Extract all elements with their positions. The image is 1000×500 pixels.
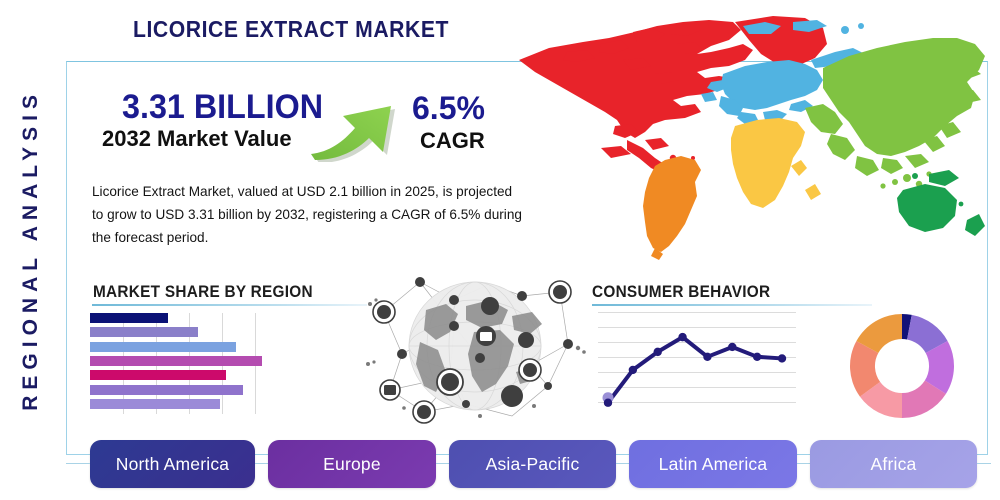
line-data-point xyxy=(728,343,736,351)
region-pill-row: North AmericaEuropeAsia-PacificLatin Ame… xyxy=(80,440,990,488)
line-data-point xyxy=(778,354,786,362)
region-pill-africa[interactable]: Africa xyxy=(810,440,977,488)
growth-arrow-icon xyxy=(307,80,407,162)
pill-connector xyxy=(255,463,268,464)
bar-chart-bar xyxy=(90,356,262,366)
pill-connector-left xyxy=(66,463,90,464)
market-value-figure: 3.31 BILLION xyxy=(122,88,323,127)
market-value-caption: 2032 Market Value xyxy=(102,126,292,152)
pill-connector-right xyxy=(977,463,991,464)
pill-connector xyxy=(616,463,629,464)
pill-connector xyxy=(797,463,810,464)
line-data-point xyxy=(703,353,711,361)
bar-chart-bar xyxy=(90,385,243,395)
page-title: LICORICE EXTRACT MARKET xyxy=(133,16,449,43)
line-data-point xyxy=(629,366,637,374)
market-share-bar-chart xyxy=(90,313,290,414)
side-label-text: REGIONAL ANALYSIS xyxy=(19,89,43,411)
bar-chart-bar xyxy=(90,399,220,409)
vertical-side-label: REGIONAL ANALYSIS xyxy=(8,50,54,450)
region-pill-europe[interactable]: Europe xyxy=(268,440,436,488)
world-map-icon xyxy=(505,8,997,266)
bar-chart-bar xyxy=(90,342,236,352)
bar-chart-bar xyxy=(90,370,226,380)
cagr-figure: 6.5% xyxy=(412,90,485,127)
region-pill-asia-pacific[interactable]: Asia-Pacific xyxy=(449,440,616,488)
market-description: Licorice Extract Market, valued at USD 2… xyxy=(92,180,522,249)
section-title-consumer-behavior: CONSUMER BEHAVIOR xyxy=(592,283,770,302)
line-data-point xyxy=(753,353,761,361)
global-network-globe-icon xyxy=(362,266,588,424)
consumer-behavior-line-chart xyxy=(598,312,796,414)
bar-chart-bar xyxy=(90,313,168,323)
line-data-point xyxy=(654,348,662,356)
hero-stats: 3.31 BILLION 2032 Market Value 6.5% CAGR xyxy=(92,88,512,168)
section-rule-market-share xyxy=(92,304,367,306)
section-rule-consumer-behavior xyxy=(592,304,872,306)
pill-connector xyxy=(436,463,449,464)
regional-donut-chart xyxy=(846,310,958,422)
bar-chart-bar xyxy=(90,327,198,337)
line-data-point xyxy=(604,399,612,407)
line-data-point xyxy=(678,333,686,341)
section-title-market-share: MARKET SHARE BY REGION xyxy=(93,283,313,302)
region-pill-north-america[interactable]: North America xyxy=(90,440,255,488)
cagr-caption: CAGR xyxy=(420,128,485,154)
region-pill-latin-america[interactable]: Latin America xyxy=(629,440,797,488)
infographic-root: REGIONAL ANALYSIS LICORICE EXTRACT MARKE… xyxy=(0,0,1000,500)
